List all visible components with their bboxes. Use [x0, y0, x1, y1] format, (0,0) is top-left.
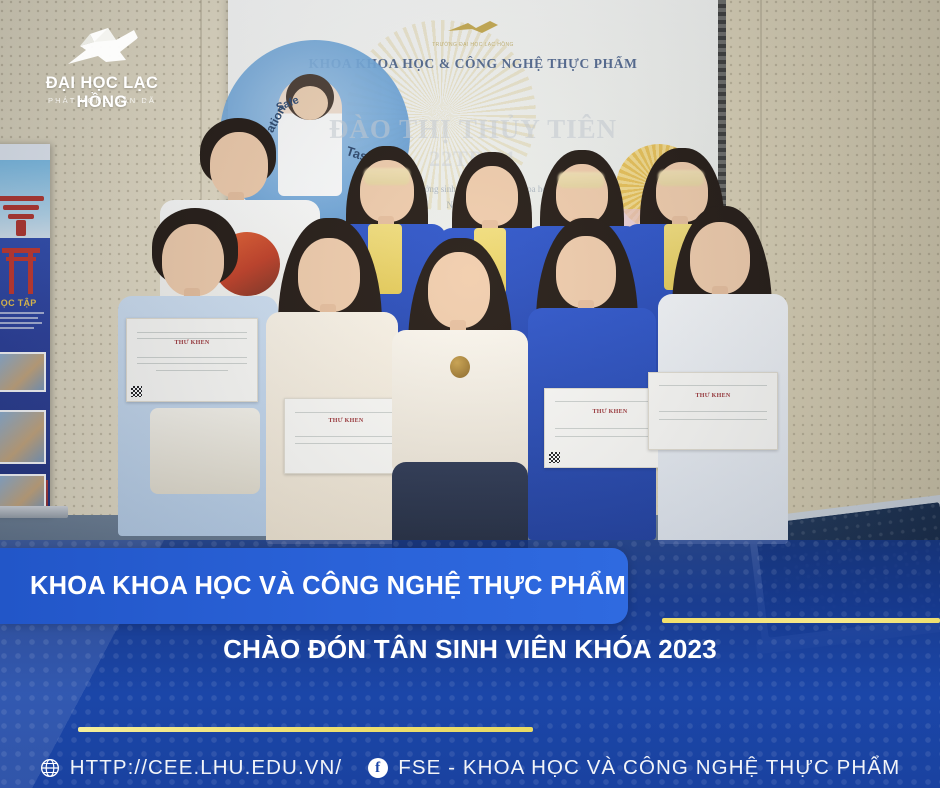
website-label: HTTP://CEE.LHU.EDU.VN/	[70, 756, 343, 780]
bird-logo-icon	[64, 26, 144, 70]
facebook-label: FSE - KHOA HỌC VÀ CÔNG NGHỆ THỰC PHẨM	[398, 756, 900, 780]
title-line-2: CHÀO ĐÓN TÂN SINH VIÊN KHÓA 2023	[0, 634, 940, 665]
certificate-title: THƯ KHEN	[649, 393, 777, 399]
certificate: THƯ KHEN	[648, 372, 778, 450]
title-box: KHOA KHOA HỌC VÀ CÔNG NGHỆ THỰC PHẨM	[0, 548, 628, 624]
footer-website[interactable]: HTTP://CEE.LHU.EDU.VN/	[40, 756, 343, 780]
logo-tagline: PHÁT VỌNG DÂN DÃ	[18, 96, 186, 105]
footer-bar: HTTP://CEE.LHU.EDU.VN/ f FSE - KHOA HỌC …	[0, 748, 940, 788]
accent-line-right	[662, 618, 940, 623]
qr-code-icon	[549, 452, 560, 463]
qr-code-icon	[131, 386, 142, 397]
poster-root: TRƯỜNG ĐẠI HỌC LẠC HỒNG KHOA KHOA HỌC & …	[0, 0, 940, 788]
logo-name: ĐẠI HỌC LẠC HỒNG	[18, 74, 186, 112]
title-line-1: KHOA KHOA HỌC VÀ CÔNG NGHỆ THỰC PHẨM	[0, 572, 626, 601]
university-logo: ĐẠI HỌC LẠC HỒNG PHÁT VỌNG DÂN DÃ	[18, 26, 186, 112]
globe-icon	[40, 758, 60, 778]
footer-facebook[interactable]: f FSE - KHOA HỌC VÀ CÔNG NGHỆ THỰC PHẨM	[368, 756, 900, 780]
footer-divider	[78, 727, 533, 732]
facebook-icon: f	[368, 758, 388, 778]
certificate-title: THƯ KHEN	[285, 418, 407, 424]
certificate: THƯ KHEN	[284, 398, 408, 474]
certificate-title: THƯ KHEN	[127, 340, 257, 346]
certificate: THƯ KHEN	[126, 318, 258, 402]
